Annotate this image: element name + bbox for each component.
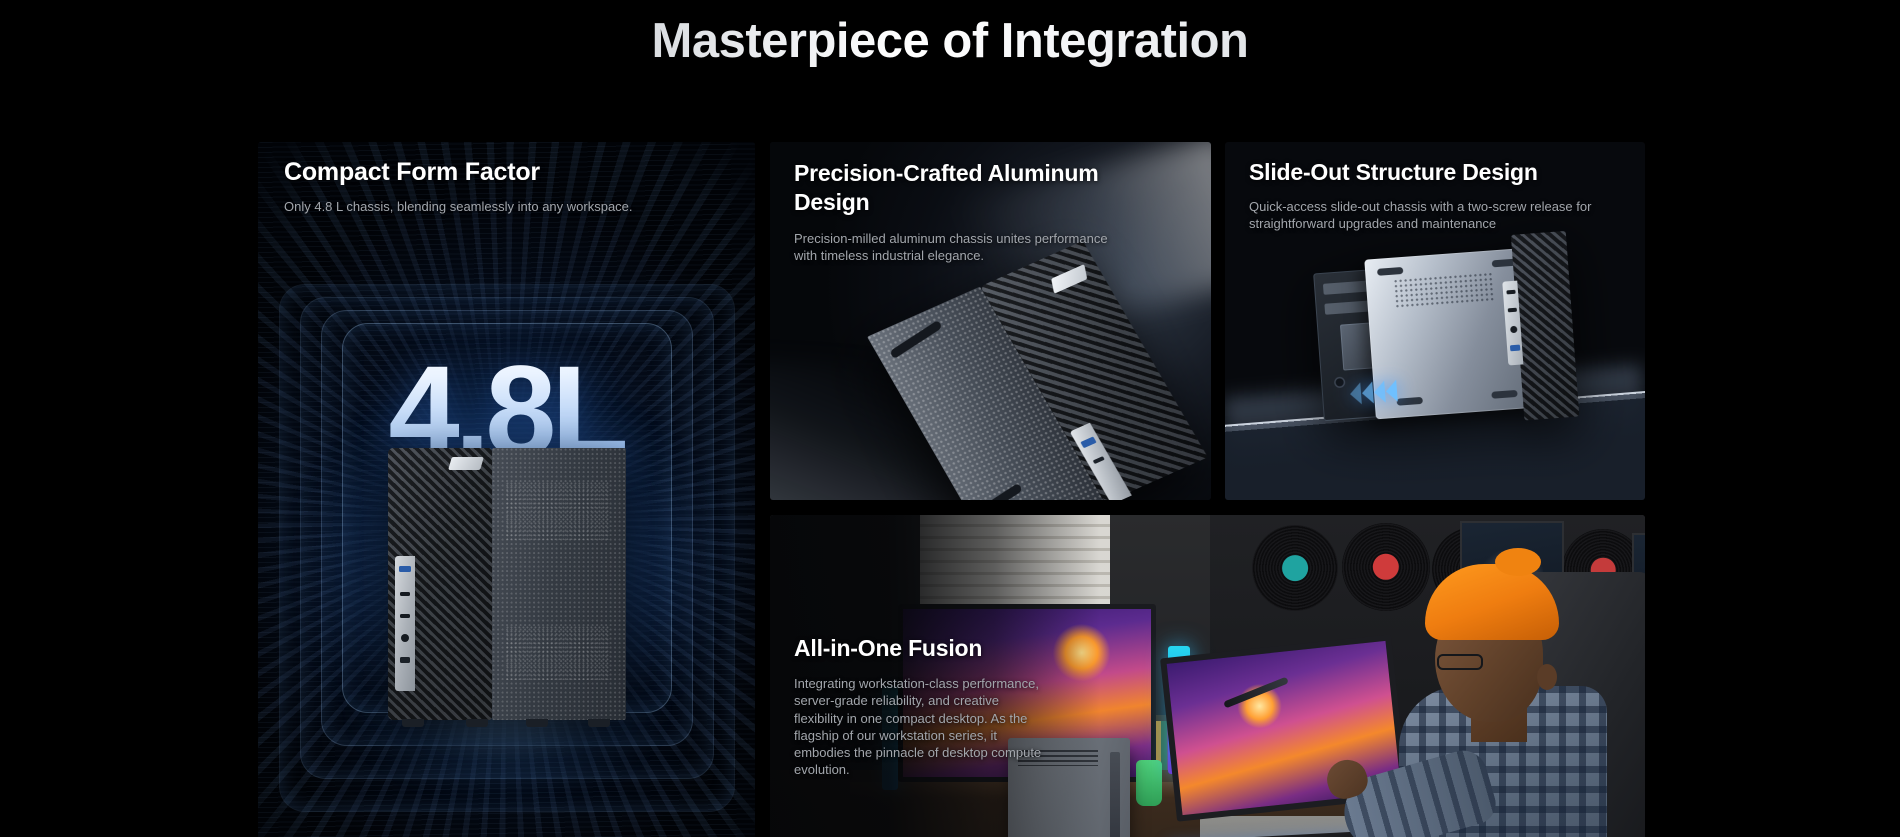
water-bottle [1136,760,1162,806]
feature-card-compact-form-factor[interactable]: 4.8L [258,142,755,837]
power-button-icon [400,657,410,663]
orange-beanie [1425,564,1559,640]
feature-card-all-in-one-fusion[interactable]: RARITIES EMAR [770,515,1645,837]
compact-form-factor-artwork: 4.8L [258,142,755,837]
card-text-block: Precision-Crafted Aluminum Design Precis… [794,159,1124,265]
usb-c-port-icon-secondary [1507,308,1516,313]
record-label [1282,555,1308,581]
chassis-foot [526,719,548,727]
card-title: Slide-Out Structure Design [1249,159,1609,186]
chassis-foot [466,719,488,727]
card-description: Precision-milled aluminum chassis unites… [794,230,1124,265]
card-text-block: All-in-One Fusion Integrating workstatio… [794,635,1042,779]
usb-c-port-icon [400,592,410,596]
chevron-left-icon [1361,381,1374,404]
slide-direction-chevrons-icon [1349,375,1413,409]
feature-card-slide-out-structure-design[interactable]: Slide-Out Structure Design Quick-access … [1225,142,1645,500]
panel-vent [1394,272,1496,309]
chevron-left-icon [1349,382,1362,405]
chevron-left-icon [1385,380,1398,403]
usb-c-port-icon-secondary [400,614,410,618]
ear [1537,664,1557,690]
card-title: Compact Form Factor [284,158,724,187]
chassis-foot [402,719,424,727]
feature-card-grid: 4.8L [258,142,1645,837]
chevron-left-icon [1373,381,1386,404]
glasses-icon [1437,654,1483,670]
tower-side-strip [1110,752,1120,837]
vent-lower [506,626,610,680]
slide-out-chassis-render [1312,245,1578,425]
card-title: Precision-Crafted Aluminum Design [794,159,1124,216]
vinyl-record-wall-art [1252,525,1338,611]
feature-card-precision-crafted-aluminum-design[interactable]: Precision-Crafted Aluminum Design Precis… [770,142,1211,500]
panel-grip [1377,267,1403,276]
audio-jack-icon [401,634,409,642]
chassis-badge [448,457,484,470]
audio-jack-icon [1510,326,1517,333]
thumbscrew-icon [1334,376,1346,388]
card-description: Only 4.8 L chassis, blending seamlessly … [284,198,724,215]
panel-grip [1491,390,1517,399]
feature-showcase-page: Masterpiece of Integration 4.8L [0,0,1900,837]
card-text-block: Compact Form Factor Only 4.8 L chassis, … [284,158,724,215]
chassis-foot [588,719,610,727]
io-port-strip [395,556,415,691]
mini-tower-render [388,448,626,720]
creator-person [1365,570,1601,837]
usb-a-port-icon [1080,436,1096,448]
usb-a-port-icon [399,566,411,572]
power-button-icon [1093,456,1105,464]
usb-a-port-icon [1509,345,1519,352]
page-title: Masterpiece of Integration [0,14,1900,69]
card-title: All-in-One Fusion [794,635,1042,662]
vent-upper [506,482,610,540]
usb-c-port-icon [1506,290,1515,295]
card-text-block: Slide-Out Structure Design Quick-access … [1249,159,1609,233]
card-description: Integrating workstation-class performanc… [794,675,1042,779]
card-description: Quick-access slide-out chassis with a tw… [1249,198,1609,233]
